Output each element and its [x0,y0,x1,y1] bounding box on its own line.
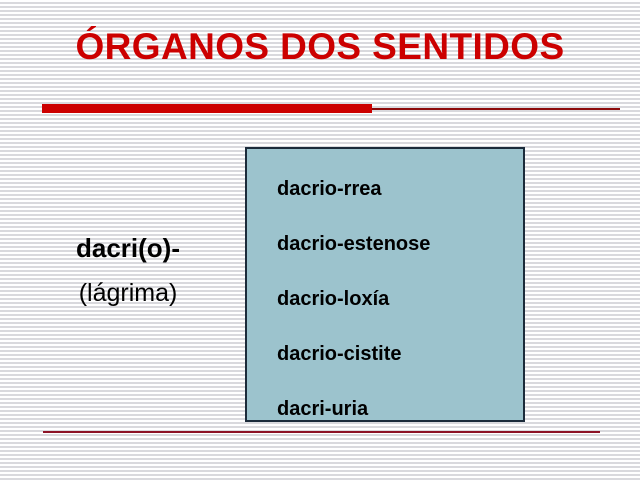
term-item: dacrio-rrea [277,177,523,201]
prefix-block: dacri(o)- (lágrima) [14,231,242,309]
prefix-meaning: (lágrima) [14,277,242,309]
bottom-divider-line [43,431,600,433]
terms-box: dacrio-rrea dacrio-estenose dacrio-loxía… [245,147,525,422]
term-item: dacri-uria [277,397,523,421]
prefix-term: dacri(o)- [14,231,242,265]
top-divider-thick-bar [42,104,372,113]
term-item: dacrio-loxía [277,287,523,311]
page-title: ÓRGANOS DOS SENTIDOS [0,24,640,70]
term-item: dacrio-estenose [277,232,523,256]
slide-canvas: ÓRGANOS DOS SENTIDOS dacri(o)- (lágrima)… [0,0,640,480]
term-item: dacrio-cistite [277,342,523,366]
